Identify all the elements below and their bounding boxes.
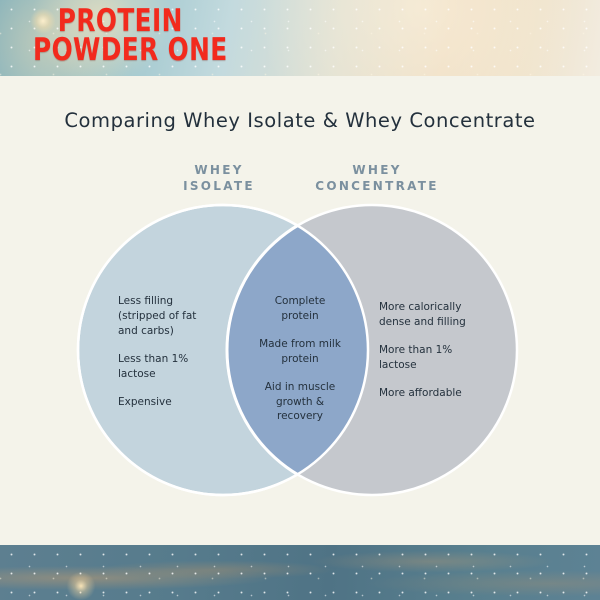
- venn-item-isolate-2-line2: lactose: [118, 368, 156, 380]
- venn-item-concentrate-1: More calorically dense and filling: [379, 300, 501, 330]
- venn-item-concentrate-2-line1: More than 1%: [379, 344, 452, 356]
- venn-label-whey-isolate: WHEY ISOLATE: [138, 162, 300, 194]
- venn-item-both-1-line1: Complete: [275, 295, 326, 307]
- star-flare-icon-bottom: [66, 571, 96, 600]
- venn-label-whey-concentrate: WHEY CONCENTRATE: [296, 162, 458, 194]
- venn-items-whey-isolate: Less filling (stripped of fat and carbs)…: [118, 294, 236, 409]
- venn-item-isolate-3: Expensive: [118, 395, 236, 410]
- venn-label-whey-concentrate-line2: CONCENTRATE: [315, 179, 439, 193]
- venn-item-concentrate-1-line2: dense and filling: [379, 316, 466, 328]
- venn-diagram: WHEY ISOLATE WHEY CONCENTRATE Less filli…: [0, 76, 600, 545]
- venn-item-both-3-line2: growth &: [276, 396, 324, 408]
- venn-items-intersection: Complete protein Made from milk protein …: [252, 294, 348, 424]
- venn-item-both-2-line2: protein: [281, 353, 318, 365]
- venn-item-both-1: Complete protein: [252, 294, 348, 324]
- venn-item-both-3-line1: Aid in muscle: [265, 381, 336, 393]
- venn-item-both-3: Aid in muscle growth & recovery: [252, 380, 348, 425]
- top-banner: PROTEIN POWDER ONE: [0, 0, 600, 76]
- venn-label-whey-isolate-line2: ISOLATE: [183, 179, 255, 193]
- slide-canvas: PROTEIN POWDER ONE Comparing Whey Isolat…: [0, 0, 600, 600]
- brand-logo: PROTEIN POWDER ONE: [33, 7, 228, 64]
- venn-item-isolate-1: Less filling (stripped of fat and carbs): [118, 294, 236, 339]
- venn-items-whey-concentrate: More calorically dense and filling More …: [379, 300, 501, 401]
- venn-item-both-3-line3: recovery: [277, 410, 323, 422]
- brand-logo-line2: POWDER ONE: [33, 36, 228, 65]
- venn-item-concentrate-2: More than 1% lactose: [379, 343, 501, 373]
- venn-item-both-2: Made from milk protein: [252, 337, 348, 367]
- venn-item-concentrate-1-line1: More calorically: [379, 301, 461, 313]
- venn-item-isolate-1-line1: Less filling: [118, 295, 173, 307]
- venn-item-isolate-2-line1: Less than 1%: [118, 353, 188, 365]
- content-sheet: Comparing Whey Isolate & Whey Concentrat…: [0, 76, 600, 545]
- venn-item-both-2-line1: Made from milk: [259, 338, 341, 350]
- venn-item-concentrate-2-line2: lactose: [379, 359, 417, 371]
- venn-item-concentrate-3: More affordable: [379, 386, 501, 401]
- venn-label-whey-concentrate-line1: WHEY: [352, 163, 401, 177]
- venn-item-both-1-line2: protein: [281, 310, 318, 322]
- bottom-banner: [0, 545, 600, 600]
- venn-item-isolate-2: Less than 1% lactose: [118, 352, 236, 382]
- venn-item-isolate-1-line2: (stripped of fat: [118, 310, 196, 322]
- venn-label-whey-isolate-line1: WHEY: [194, 163, 243, 177]
- venn-item-isolate-1-line3: and carbs): [118, 325, 174, 337]
